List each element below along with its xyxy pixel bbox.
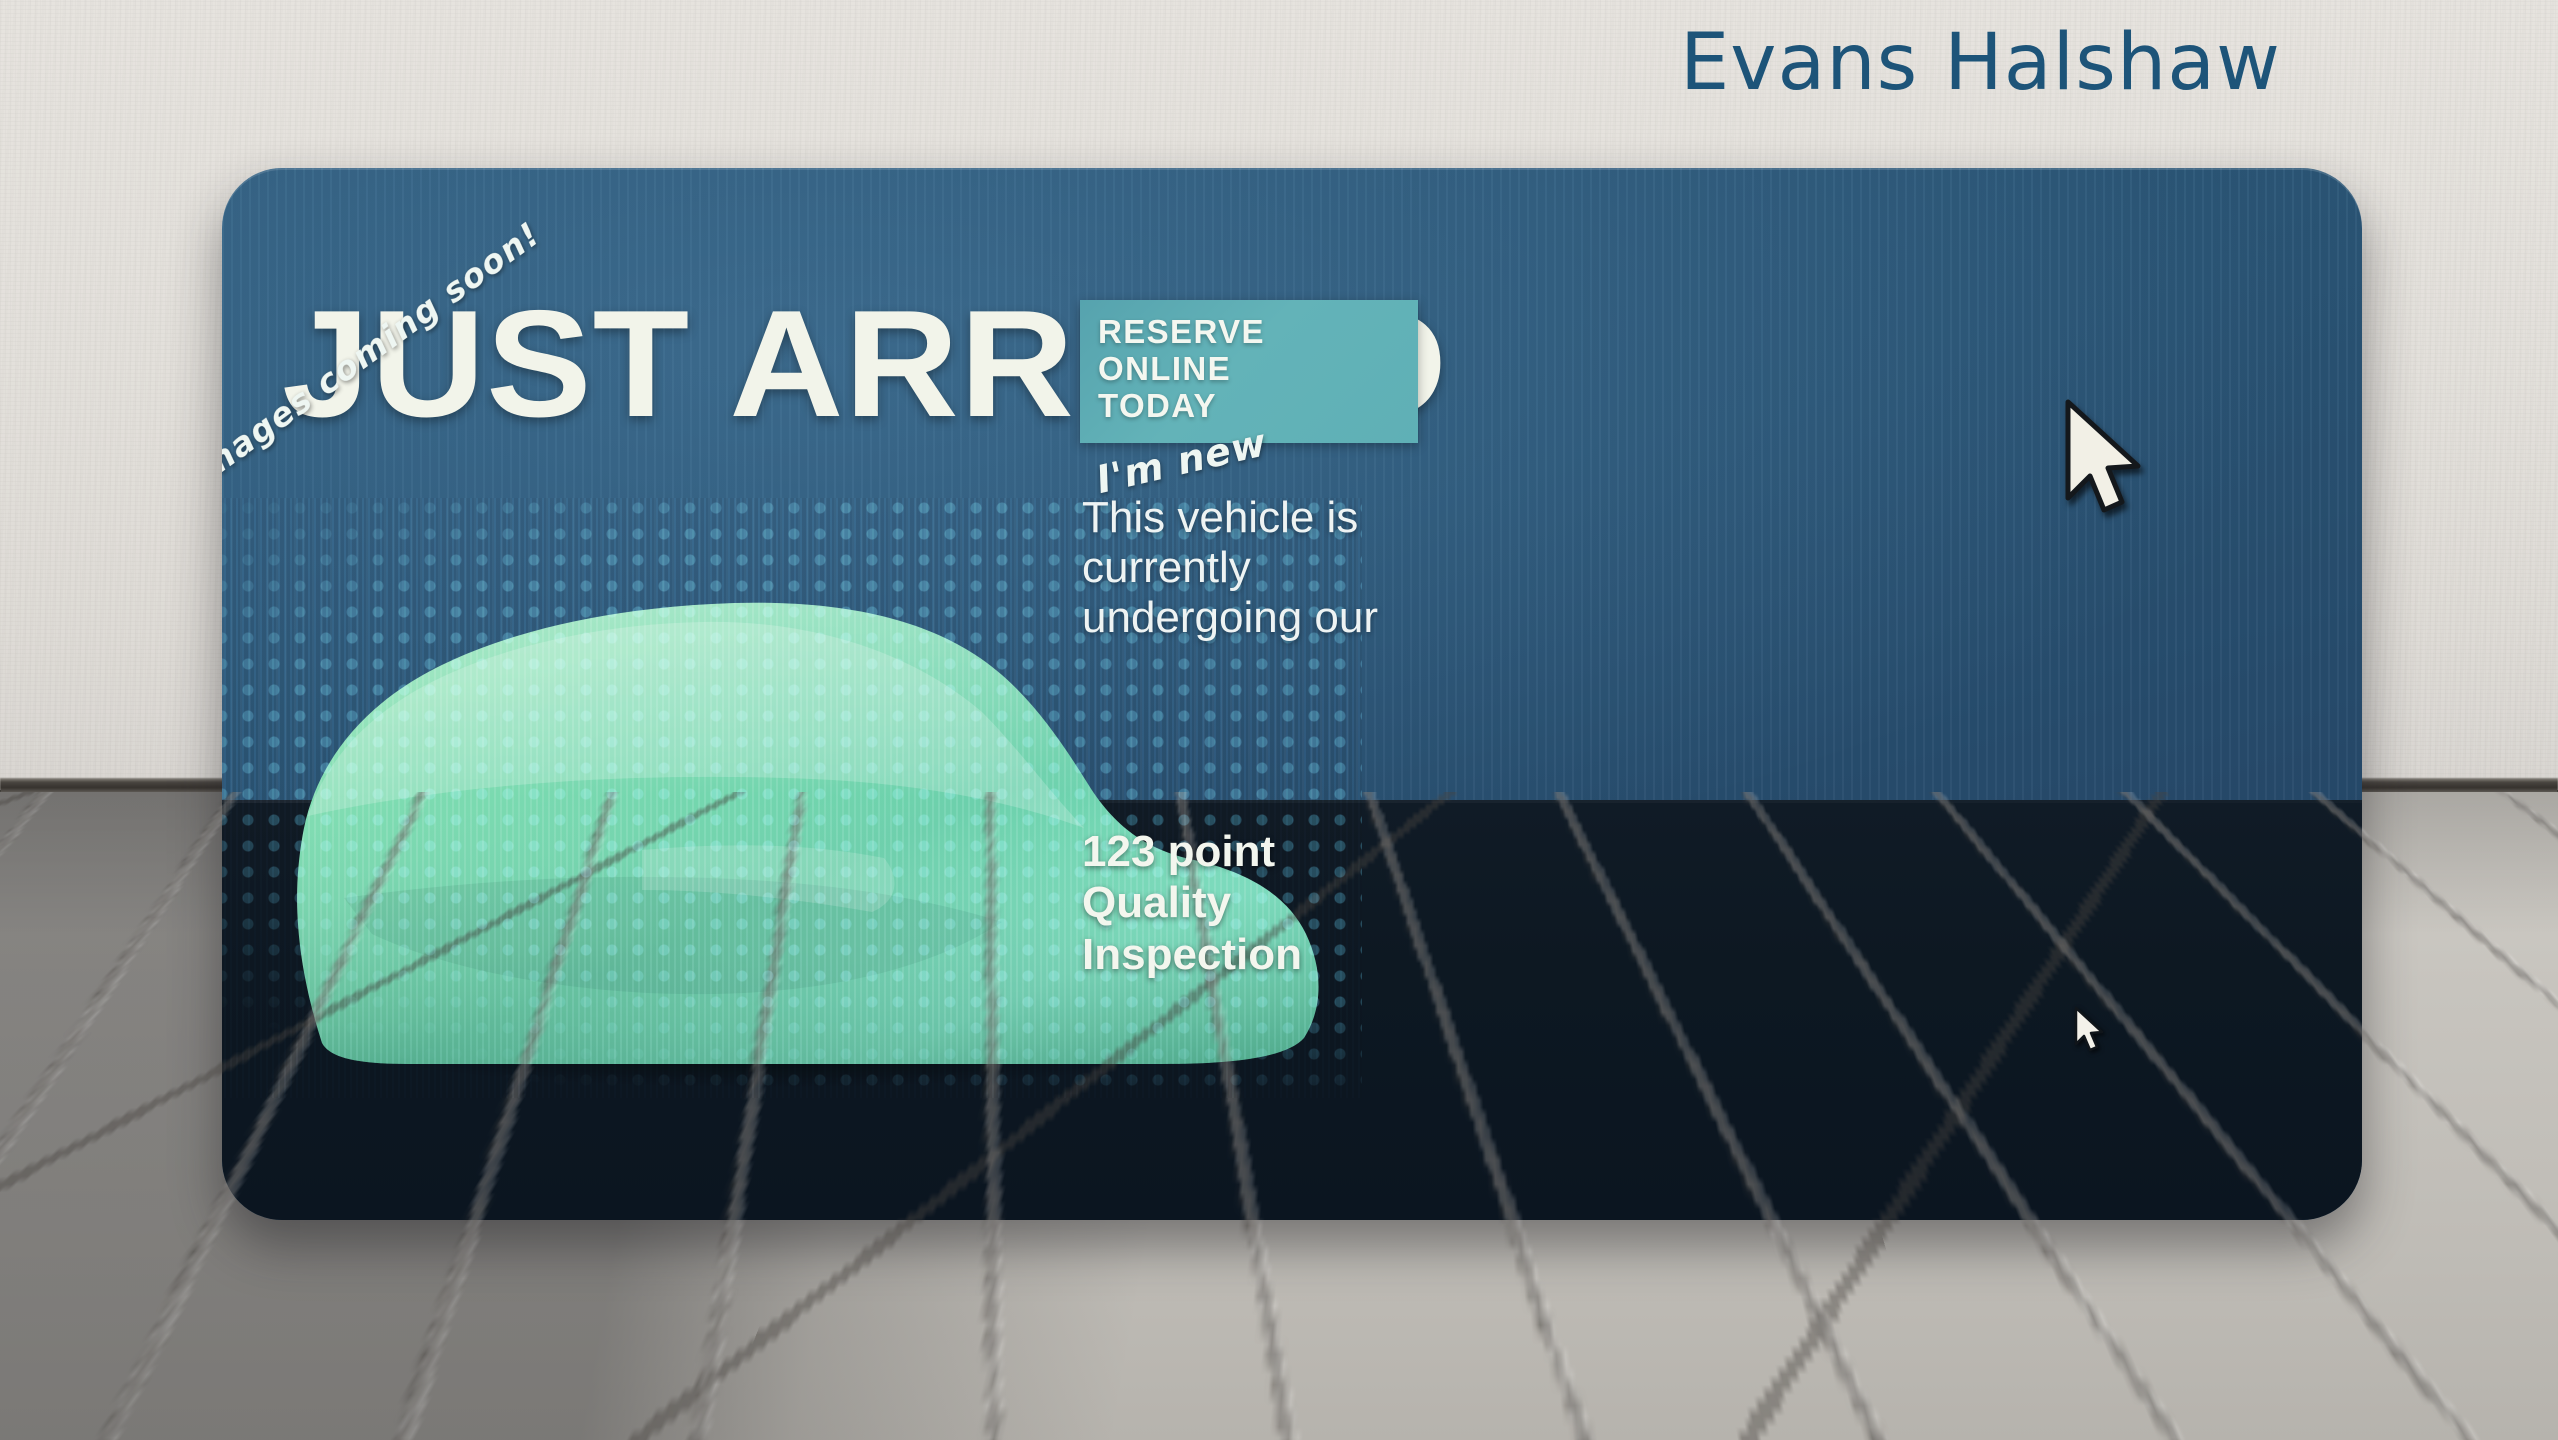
reserve-button-line-1: RESERVE ONLINE	[1098, 314, 1400, 388]
screenshot-stage: Evans Halshaw	[0, 0, 2558, 1440]
reserve-button-line-2: TODAY	[1098, 388, 1400, 425]
vehicle-status-text: This vehicle is currently undergoing our	[1082, 493, 1382, 643]
just-arrived-banner-card[interactable]: JUST ARRIVED RESERVE ONLINE TODAY This v…	[222, 168, 2362, 1220]
brand-wordmark: Evans Halshaw	[1680, 18, 2281, 108]
reserve-online-today-button[interactable]: RESERVE ONLINE TODAY	[1080, 300, 1418, 443]
quality-inspection-text: 123 point Quality Inspection	[1082, 826, 1382, 980]
